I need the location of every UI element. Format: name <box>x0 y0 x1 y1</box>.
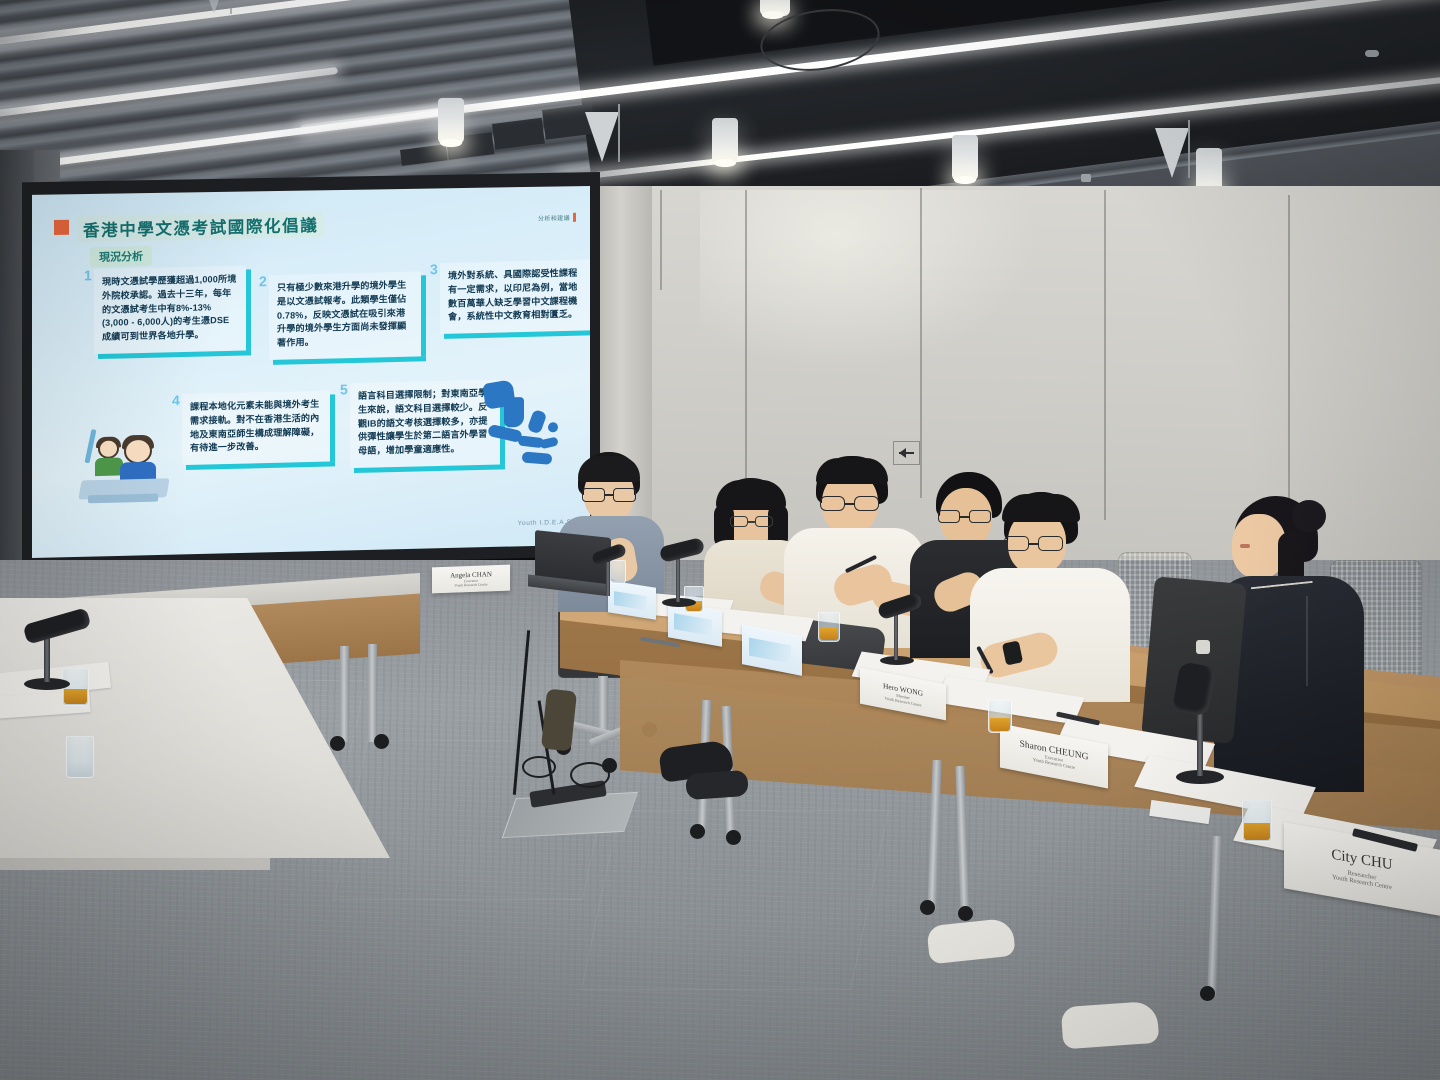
downlight <box>438 98 464 144</box>
slide-title: 香港中學文憑考試國際化倡議 <box>78 211 323 243</box>
cable-coil <box>522 756 556 778</box>
conference-room-photo: 香港中學文憑考試國際化倡議 分析和建議 現況分析 1 現時文憑試學歷獲超過1,0… <box>0 0 1440 1080</box>
desk-shape <box>88 494 158 504</box>
backpack-tag <box>1196 640 1210 654</box>
slide-logo-text: 分析和建議 <box>538 213 570 223</box>
wall-panel-seam <box>1288 195 1290 535</box>
sprinkler-head <box>1081 174 1091 182</box>
slide-card-number: 3 <box>430 261 438 277</box>
slide-card: 2 只有極少數來港升學的境外學生是以文憑試報考。此類學生僅佔0.78%，反映文憑… <box>269 271 421 360</box>
slide-subtitle: 現況分析 <box>90 246 152 267</box>
placard-org: Youth Research Centre <box>454 582 487 587</box>
downlight <box>712 118 738 164</box>
slide-students-illustration <box>74 417 174 503</box>
pendant-speaker <box>1155 128 1189 178</box>
shoe <box>1061 1001 1160 1050</box>
ceiling <box>0 0 1440 205</box>
slide-logo-bar <box>573 213 576 222</box>
pendant-speaker <box>585 112 619 162</box>
wall-light-glow <box>700 190 1040 370</box>
hair-front <box>578 456 640 482</box>
slide-card: 4 課程本地化元素未能與境外考生需求接軌。對不在香港生活的內地及東南亞師生構成理… <box>182 391 330 466</box>
wall-panel-seam <box>745 190 747 490</box>
left-arrow-icon <box>899 452 914 454</box>
backpack <box>1141 576 1247 743</box>
wall-panel-seam <box>920 188 922 498</box>
slide-card-number: 5 <box>340 381 348 397</box>
button-placket <box>1306 596 1308 686</box>
water-glass[interactable] <box>66 736 94 778</box>
pendant-speaker <box>205 0 223 14</box>
slide-bullet-square <box>54 220 69 235</box>
sprinkler-head <box>1365 50 1379 57</box>
downlight <box>952 135 978 181</box>
drinking-glass[interactable] <box>1242 800 1272 842</box>
slide-card-text: 現時文憑試學歷獲超過1,000所境外院校承認。過去十三年，每年的文憑試考生中有8… <box>102 273 238 345</box>
slide-card-text: 課程本地化元素未能與境外考生需求接軌。對不在香港生活的內地及東南亞師生構成理解障… <box>190 398 322 456</box>
trouser-leg <box>541 689 577 752</box>
person-man-white-tshirt <box>976 492 1126 702</box>
shoe <box>685 770 749 800</box>
glasses <box>582 488 638 502</box>
person-woman-navy <box>1218 492 1378 792</box>
drinking-glass[interactable] <box>818 612 840 642</box>
slide-card-text: 境外對系統、具國際認受性課程有一定需求，以印尼為例，當地數百萬華人缺乏學習中文課… <box>448 267 582 325</box>
slide-logo: 分析和建議 <box>538 213 576 223</box>
slide-card-text: 只有極少數來港升學的境外學生是以文憑試報考。此類學生僅佔0.78%，反映文憑試在… <box>277 279 413 351</box>
slide-card-text: 語言科目選擇限制；對東南亞學生來說，語文科目選擇較少。反觀IB的語文考核選擇較多… <box>358 387 492 459</box>
lips <box>1240 544 1250 548</box>
hair-front <box>1002 494 1080 522</box>
glasses <box>820 496 880 511</box>
slide-card-number: 1 <box>84 267 92 283</box>
water-glass[interactable] <box>610 560 626 584</box>
hair-bun <box>1292 500 1326 532</box>
presentation-slide: 香港中學文憑考試國際化倡議 分析和建議 現況分析 1 現時文憑試學歷獲超過1,0… <box>32 186 590 558</box>
drinking-glass[interactable] <box>988 700 1012 733</box>
wall-panel-seam <box>1104 190 1106 520</box>
placard-name: City CHU <box>1331 847 1392 875</box>
hair-front <box>816 458 888 484</box>
student-figure <box>118 438 158 483</box>
name-placard: Angela CHAN Convenor Youth Research Cent… <box>432 565 510 594</box>
slide-card-number: 2 <box>259 273 267 289</box>
glasses <box>1004 536 1064 551</box>
slide-card-number: 4 <box>172 392 180 408</box>
slide-card: 3 境外對系統、具國際認受性課程有一定需求，以印尼為例，當地數百萬華人缺乏學習中… <box>440 259 590 334</box>
wall-panel-seam <box>660 190 662 290</box>
slide-card: 1 現時文憑試學歷獲超過1,000所境外院校承認。過去十三年，每年的文憑試考生中… <box>94 266 246 355</box>
downlight <box>760 0 790 16</box>
glasses <box>730 516 774 527</box>
